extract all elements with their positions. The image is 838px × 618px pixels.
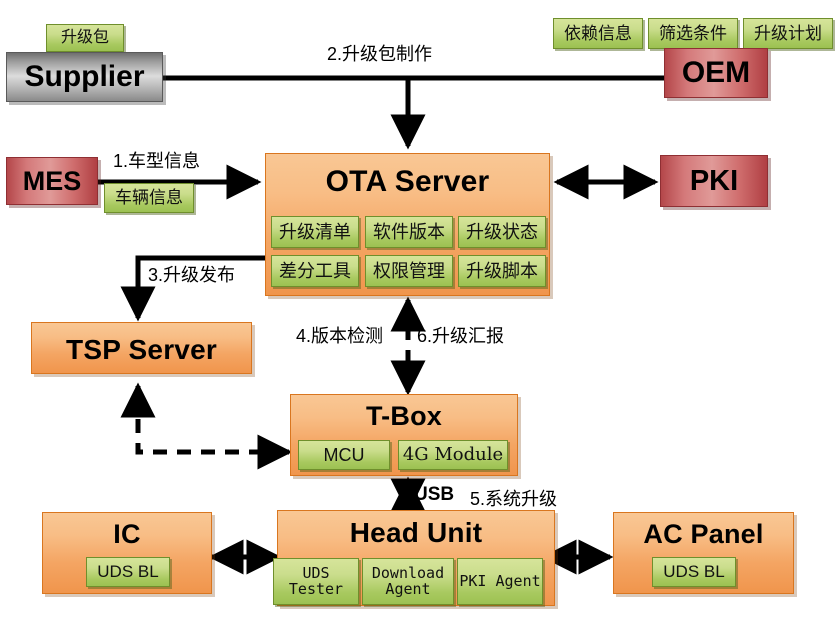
chip-label: UDS BL (97, 563, 158, 581)
chip-head-unit-uds-tester[interactable]: UDS Tester (273, 558, 359, 605)
flow-label-step1: 1.车型信息 (113, 147, 200, 173)
node-title: MES (23, 166, 82, 197)
flow-label-step4: 4.版本检测 (296, 322, 383, 348)
chip-label: PKI Agent (459, 574, 540, 590)
wire-tbox-to-tsp-dashed (138, 392, 287, 452)
chip-label: 权限管理 (373, 262, 445, 281)
node-pki[interactable]: PKI (660, 155, 768, 207)
node-oem[interactable]: OEM (664, 48, 768, 98)
chip-label: 升级状态 (466, 223, 538, 242)
chip-ota-upgrade-list[interactable]: 升级清单 (271, 216, 359, 248)
node-mes[interactable]: MES (6, 157, 98, 205)
flow-label-step2: 2.升级包制作 (327, 40, 432, 66)
chip-oem-filter-criteria[interactable]: 筛选条件 (648, 18, 738, 49)
chip-head-unit-download-agent[interactable]: Download Agent (362, 558, 454, 605)
node-title: OTA Server (266, 154, 549, 197)
chip-label: 筛选条件 (659, 25, 727, 43)
flow-label-step3: 3.升级发布 (148, 261, 235, 287)
chip-oem-upgrade-plan[interactable]: 升级计划 (743, 18, 833, 49)
node-supplier[interactable]: Supplier (6, 52, 163, 102)
node-title: Head Unit (278, 511, 554, 547)
chip-tbox-mcu[interactable]: MCU (298, 440, 390, 470)
chip-ota-upgrade-status[interactable]: 升级状态 (458, 216, 546, 248)
chip-label: 车辆信息 (115, 189, 183, 207)
node-title: AC Panel (614, 513, 793, 548)
chip-ota-diff-tool[interactable]: 差分工具 (271, 255, 359, 287)
node-tsp-server[interactable]: TSP Server (31, 322, 252, 374)
wire-tbox-to-tsp-heads (138, 386, 289, 452)
flow-label-step5: 5.系统升级 (470, 485, 557, 511)
chip-ic-uds-bl[interactable]: UDS BL (86, 557, 170, 587)
chip-tbox-4g-module[interactable]: 4G Module (398, 440, 508, 470)
node-title: OEM (682, 56, 750, 90)
node-title: Supplier (24, 60, 144, 94)
chip-label: 升级脚本 (466, 262, 538, 281)
chip-label: 软件版本 (373, 223, 445, 242)
chip-head-unit-pki-agent[interactable]: PKI Agent (457, 558, 543, 605)
chip-mes-vehicle-info[interactable]: 车辆信息 (104, 183, 194, 213)
chip-label: UDS BL (663, 563, 724, 581)
chip-oem-dependency-info[interactable]: 依赖信息 (553, 18, 643, 49)
node-title: PKI (690, 165, 738, 198)
chip-label: Download Agent (363, 566, 453, 598)
chip-label: 4G Module (403, 446, 503, 465)
chip-supplier-upgrade-package[interactable]: 升级包 (46, 24, 124, 52)
chip-label: UDS Tester (274, 566, 358, 598)
chip-label: MCU (324, 446, 365, 465)
diagram-canvas: 升级包 Supplier 2.升级包制作 依赖信息 筛选条件 升级计划 OEM … (0, 0, 838, 618)
chip-ota-upgrade-script[interactable]: 升级脚本 (458, 255, 546, 287)
chip-ac-panel-uds-bl[interactable]: UDS BL (652, 557, 736, 587)
chip-ota-software-version[interactable]: 软件版本 (365, 216, 453, 248)
chip-ota-permission-management[interactable]: 权限管理 (365, 255, 453, 287)
chip-label: 升级包 (61, 30, 109, 47)
chip-label: 升级清单 (279, 223, 351, 242)
flow-label-step6: 6.升级汇报 (417, 322, 504, 348)
flow-label-usb: USB (414, 484, 454, 506)
chip-label: 依赖信息 (564, 25, 632, 43)
node-title: IC (43, 513, 211, 548)
chip-label: 差分工具 (279, 262, 351, 281)
chip-label: 升级计划 (754, 25, 822, 43)
node-title: TSP Server (32, 323, 251, 364)
node-title: T-Box (291, 395, 517, 430)
